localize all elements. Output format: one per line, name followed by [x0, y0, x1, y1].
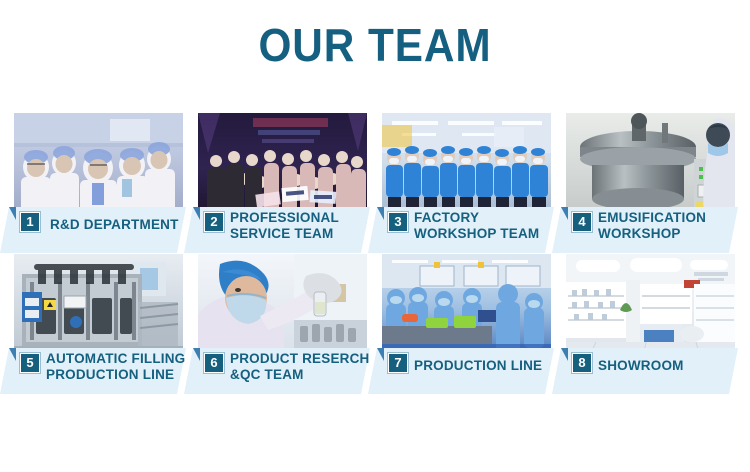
card-number-badge: 8 — [572, 353, 592, 373]
team-card[interactable]: 3 FACTORY WORKSHOP TEAM — [382, 113, 551, 223]
team-photo-3 — [382, 113, 551, 223]
team-card[interactable]: 4 EMUSIFICATION WORKSHOP — [566, 113, 735, 223]
card-label: FACTORY WORKSHOP TEAM — [414, 210, 559, 252]
card-number-badge: 1 — [20, 212, 40, 232]
card-label: R&D DEPARTMENT — [50, 210, 195, 259]
card-number-badge: 5 — [20, 353, 40, 373]
team-card[interactable]: 6 PRODUCT RESERCH &QC TEAM — [198, 254, 367, 364]
card-label: AUTOMATIC FILLING PRODUCTION LINE — [46, 351, 191, 393]
card-label: SHOWROOM — [598, 351, 743, 400]
team-card[interactable]: 1 R&D DEPARTMENT — [14, 113, 183, 223]
card-number-badge: 3 — [388, 212, 408, 232]
team-photo-1 — [14, 113, 183, 223]
card-number-badge: 4 — [572, 212, 592, 232]
card-number-badge: 2 — [204, 212, 224, 232]
card-number-badge: 7 — [388, 353, 408, 373]
team-photo-2 — [198, 113, 367, 223]
team-card[interactable]: 5 AUTOMATIC FILLING PRODUCTION LINE — [14, 254, 183, 364]
page-title: OUR TEAM — [30, 22, 720, 68]
team-card-grid: 1 R&D DEPARTMENT — [14, 113, 736, 364]
card-label: PROFESSIONAL SERVICE TEAM — [230, 210, 375, 252]
team-photo-7 — [382, 254, 551, 364]
team-photo-5 — [14, 254, 183, 364]
card-label: PRODUCT RESERCH &QC TEAM — [230, 351, 375, 393]
team-photo-8 — [566, 254, 735, 364]
team-photo-4 — [566, 113, 735, 223]
team-card[interactable]: 7 PRODUCTION LINE — [382, 254, 551, 364]
team-photo-6 — [198, 254, 367, 364]
card-label: EMUSIFICATION WORKSHOP — [598, 210, 743, 252]
card-label: PRODUCTION LINE — [414, 351, 559, 400]
card-number-badge: 6 — [204, 353, 224, 373]
team-card[interactable]: 8 SHOWROOM — [566, 254, 735, 364]
team-card[interactable]: 2 PROFESSIONAL SERVICE TEAM — [198, 113, 367, 223]
